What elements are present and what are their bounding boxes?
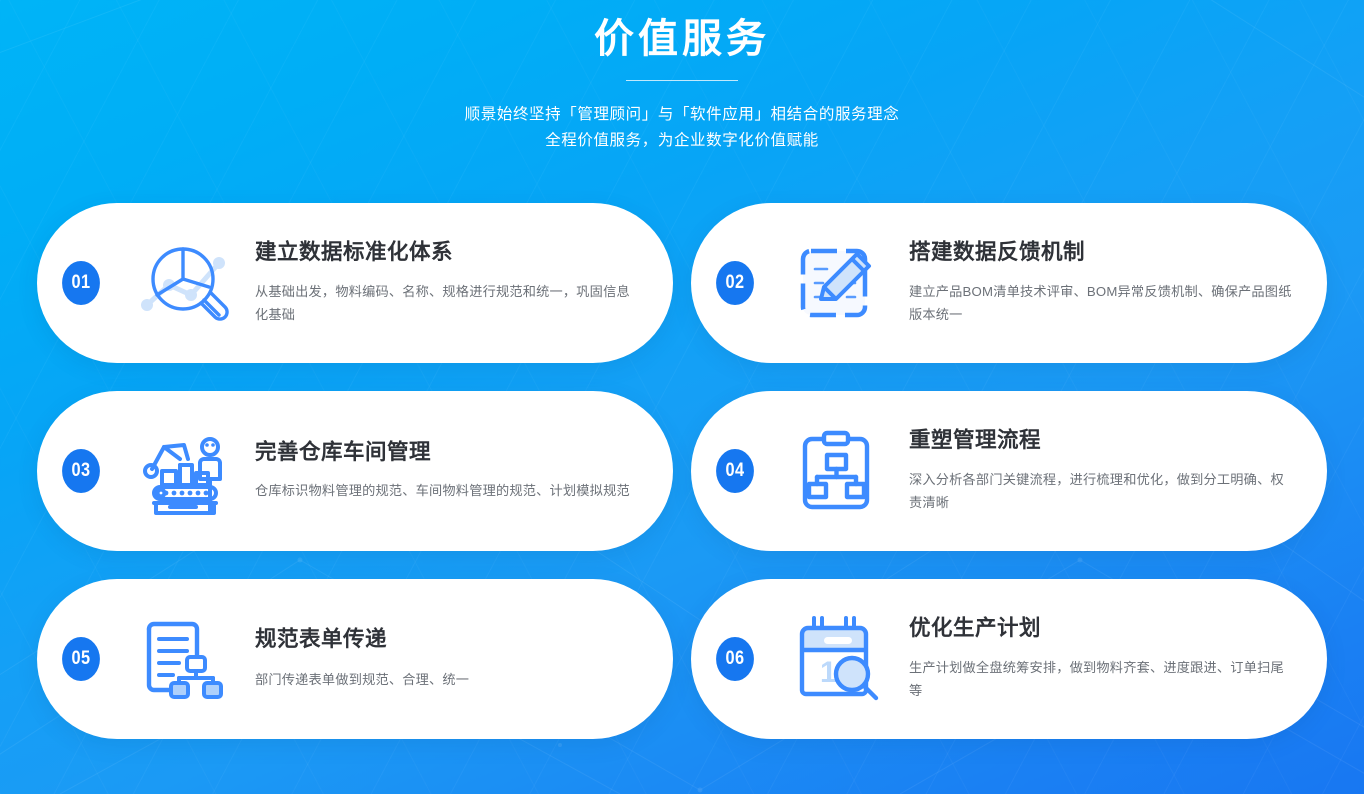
page-title: 价值服务 — [0, 14, 1364, 64]
service-card-06[interactable]: 06 11 — [691, 579, 1327, 739]
card-description: 生产计划做全盘统筹安排，做到物料齐套、进度跟进、订单扫尾等 — [909, 656, 1293, 702]
service-card-05[interactable]: 05 — [37, 579, 673, 739]
page-subtitle: 顺景始终坚持「管理顾问」与「软件应用」相结合的服务理念 全程价值服务，为企业数字… — [0, 102, 1364, 154]
card-title: 建立数据标准化体系 — [255, 240, 639, 266]
card-description: 仓库标识物料管理的规范、车间物料管理的规范、计划模拟规范 — [255, 479, 639, 502]
subtitle-line-1: 顺景始终坚持「管理顾问」与「软件应用」相结合的服务理念 — [0, 102, 1364, 128]
clipboard-hierarchy-icon — [781, 419, 893, 523]
card-text-block: 优化生产计划 生产计划做全盘统筹安排，做到物料齐套、进度跟进、订单扫尾等 — [909, 616, 1293, 702]
card-number-badge: 03 — [62, 449, 100, 493]
card-description: 深入分析各部门关键流程，进行梳理和优化，做到分工明确、权责清晰 — [909, 468, 1293, 514]
card-number-badge: 06 — [716, 637, 754, 681]
service-card-01[interactable]: 01 建立数据标准化体系 — [37, 203, 673, 363]
card-title: 重塑管理流程 — [909, 428, 1293, 454]
card-number-badge: 02 — [716, 261, 754, 305]
notepad-pencil-icon — [781, 231, 893, 335]
card-number-badge: 04 — [716, 449, 754, 493]
card-text-block: 完善仓库车间管理 仓库标识物料管理的规范、车间物料管理的规范、计划模拟规范 — [255, 440, 639, 503]
card-title: 完善仓库车间管理 — [255, 440, 639, 466]
card-number-badge: 05 — [62, 637, 100, 681]
calendar-magnifier-icon: 11 — [781, 607, 893, 711]
service-card-04[interactable]: 04 重塑管理流程 深入分析各部门关键流程，进行梳理和优化，做到分工明确、权责清… — [691, 391, 1327, 551]
subtitle-line-2: 全程价值服务，为企业数字化价值赋能 — [0, 128, 1364, 154]
service-card-03[interactable]: 03 — [37, 391, 673, 551]
card-text-block: 建立数据标准化体系 从基础出发，物料编码、名称、规格进行规范和统一，巩固信息化基… — [255, 240, 639, 326]
service-card-02[interactable]: 02 搭建数据反馈机制 建立产品BOM清单技术评审、BOM异 — [691, 203, 1327, 363]
card-title: 规范表单传递 — [255, 627, 639, 653]
page-header: 价值服务 顺景始终坚持「管理顾问」与「软件应用」相结合的服务理念 全程价值服务，… — [0, 0, 1364, 154]
document-flowchart-icon — [127, 607, 239, 711]
factory-conveyor-worker-icon — [127, 419, 239, 523]
card-text-block: 规范表单传递 部门传递表单做到规范、合理、统一 — [255, 627, 639, 692]
card-description: 建立产品BOM清单技术评审、BOM异常反馈机制、确保产品图纸版本统一 — [909, 280, 1293, 326]
pie-chart-magnifier-icon — [127, 231, 239, 335]
card-text-block: 搭建数据反馈机制 建立产品BOM清单技术评审、BOM异常反馈机制、确保产品图纸版… — [909, 240, 1293, 326]
card-title: 优化生产计划 — [909, 616, 1293, 642]
card-description: 从基础出发，物料编码、名称、规格进行规范和统一，巩固信息化基础 — [255, 280, 639, 326]
title-divider — [626, 80, 738, 81]
service-card-grid: 01 建立数据标准化体系 — [37, 203, 1327, 739]
card-description: 部门传递表单做到规范、合理、统一 — [255, 668, 639, 691]
card-title: 搭建数据反馈机制 — [909, 240, 1293, 266]
card-number-badge: 01 — [62, 261, 100, 305]
card-text-block: 重塑管理流程 深入分析各部门关键流程，进行梳理和优化，做到分工明确、权责清晰 — [909, 428, 1293, 514]
